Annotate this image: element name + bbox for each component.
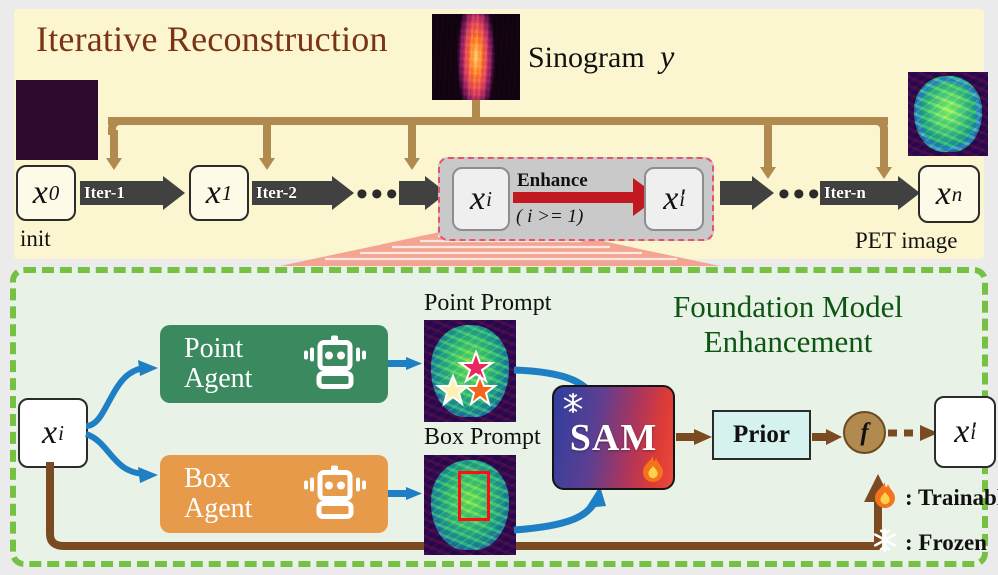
fusion-to-output-arrow [888, 421, 940, 445]
point-prompt-stars [424, 320, 516, 422]
node-x1-base: x [206, 174, 221, 212]
node-xi-top-base: x [470, 180, 485, 218]
point-agent-output-arrow [388, 352, 424, 376]
box-agent-label: Box Agent [184, 464, 252, 524]
bus-drop-1 [110, 130, 118, 160]
legend-frozen: : Frozen [872, 526, 987, 559]
iter-1-label: Iter-1 [84, 182, 125, 204]
enhance-condition: ( i >= 1) [516, 206, 583, 228]
sinogram-symbol: y [660, 38, 674, 74]
box-prompt-rect [458, 471, 490, 521]
fusion-node[interactable]: f [843, 411, 886, 454]
prior-label: Prior [733, 421, 790, 449]
node-xi-prime-bottom-base: x [954, 413, 969, 451]
sam-label: SAM [570, 416, 657, 460]
init-caption: init [20, 226, 51, 252]
init-image [16, 80, 98, 160]
snowflake-icon [872, 526, 898, 559]
fire-icon [872, 480, 898, 515]
bus-drop-3-arrow [404, 158, 420, 170]
legend-frozen-label: : Frozen [905, 530, 987, 556]
bus-drop-2-arrow [259, 158, 275, 170]
node-xn-sub: n [952, 182, 963, 207]
box-agent-output-arrow [388, 482, 424, 506]
sinogram-image [432, 14, 520, 100]
node-xn-base: x [936, 175, 951, 213]
iter-n-arrow: Iter-n [820, 176, 920, 210]
page-title: Iterative Reconstruction [36, 18, 388, 60]
snowflake-icon [562, 392, 584, 419]
point-agent-box[interactable]: Point Agent [160, 325, 388, 403]
legend-trainable-label: : Trainable [905, 485, 998, 511]
node-xn: xn [918, 165, 980, 223]
bottom-panel-title: Foundation Model Enhancement [628, 290, 948, 359]
ellipsis-2: ••• [778, 178, 823, 212]
point-agent-label: Point Agent [184, 334, 252, 394]
node-xi-top: xi [452, 167, 510, 231]
bus-drop-1-arrow [106, 158, 122, 170]
bus-drop-5 [880, 130, 888, 169]
fire-icon [640, 455, 666, 488]
iter-2-arrow: Iter-2 [252, 176, 354, 210]
bus-drop-2 [263, 121, 271, 160]
node-xi-bottom: xi [18, 398, 88, 468]
sinogram-label: Sinogram y [528, 38, 674, 75]
ellipsis-1: ••• [356, 178, 401, 212]
robot-icon [304, 334, 366, 395]
enhance-arrow-shaft [513, 192, 635, 203]
prior-box[interactable]: Prior [712, 410, 811, 460]
node-xi-bottom-base: x [42, 414, 57, 452]
node-x1-sub: 1 [222, 181, 233, 206]
iter-2-label: Iter-2 [256, 182, 297, 204]
sam-to-prior-arrow [676, 424, 714, 450]
figure-root: Iterative Reconstruction Sinogram y x0 i… [0, 0, 998, 575]
node-xi-prime-bottom: xi′ [934, 396, 996, 468]
node-xi-prime-top: xi′ [644, 167, 704, 231]
node-x1: x1 [189, 165, 249, 221]
iter-stub-arrow-2 [720, 176, 776, 210]
iter-n-label: Iter-n [824, 182, 866, 204]
iter-1-arrow: Iter-1 [80, 176, 185, 210]
node-xi-top-sub: i [486, 187, 492, 212]
node-x0: x0 [16, 165, 76, 221]
node-x0-base: x [33, 174, 48, 212]
prior-to-fusion-arrow [812, 424, 844, 450]
node-xi-prime-top-base: x [663, 180, 678, 218]
bus-drop-3 [408, 121, 416, 160]
pet-image-caption: PET image [855, 228, 957, 254]
node-xi-bottom-sub: i [58, 421, 64, 446]
pet-image [908, 72, 988, 156]
point-prompt-label: Point Prompt [424, 290, 551, 317]
fusion-node-label: f [860, 419, 868, 447]
bus-drop-4 [764, 121, 772, 169]
sinogram-bus-feed [472, 100, 480, 120]
sinogram-label-text: Sinogram [528, 41, 645, 74]
enhance-label: Enhance [517, 170, 588, 192]
point-prompt-image [424, 320, 516, 422]
robot-icon [304, 464, 366, 525]
node-x0-sub: 0 [49, 181, 60, 206]
box-agent-box[interactable]: Box Agent [160, 455, 388, 533]
box-prompt-image [424, 455, 516, 555]
legend-trainable: : Trainable [872, 480, 998, 515]
